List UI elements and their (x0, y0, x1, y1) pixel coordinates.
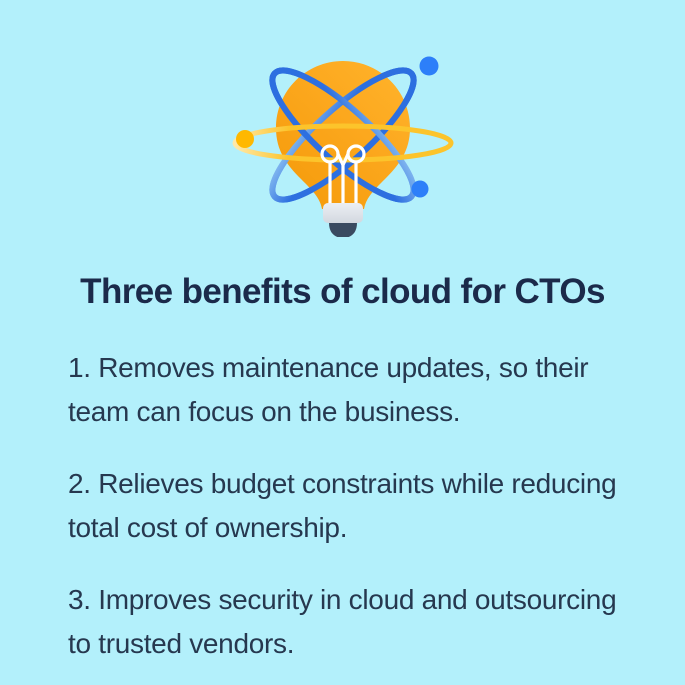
bulb-base (323, 203, 363, 237)
lightbulb-atom-svg (213, 37, 473, 237)
electron-bottom-right-icon (411, 180, 428, 197)
page-title: Three benefits of cloud for CTOs (0, 272, 685, 312)
electron-top-right-icon (419, 56, 438, 75)
infographic-card: Three benefits of cloud for CTOs 1. Remo… (0, 0, 685, 685)
electron-left-icon (236, 130, 254, 148)
list-item: 3. Improves security in cloud and outsou… (68, 578, 628, 666)
lightbulb-atom-illustration (0, 34, 685, 239)
list-item: 2. Relieves budget constraints while red… (68, 462, 628, 550)
list-item: 1. Removes maintenance updates, so their… (68, 346, 628, 434)
benefits-list: 1. Removes maintenance updates, so their… (68, 318, 628, 666)
